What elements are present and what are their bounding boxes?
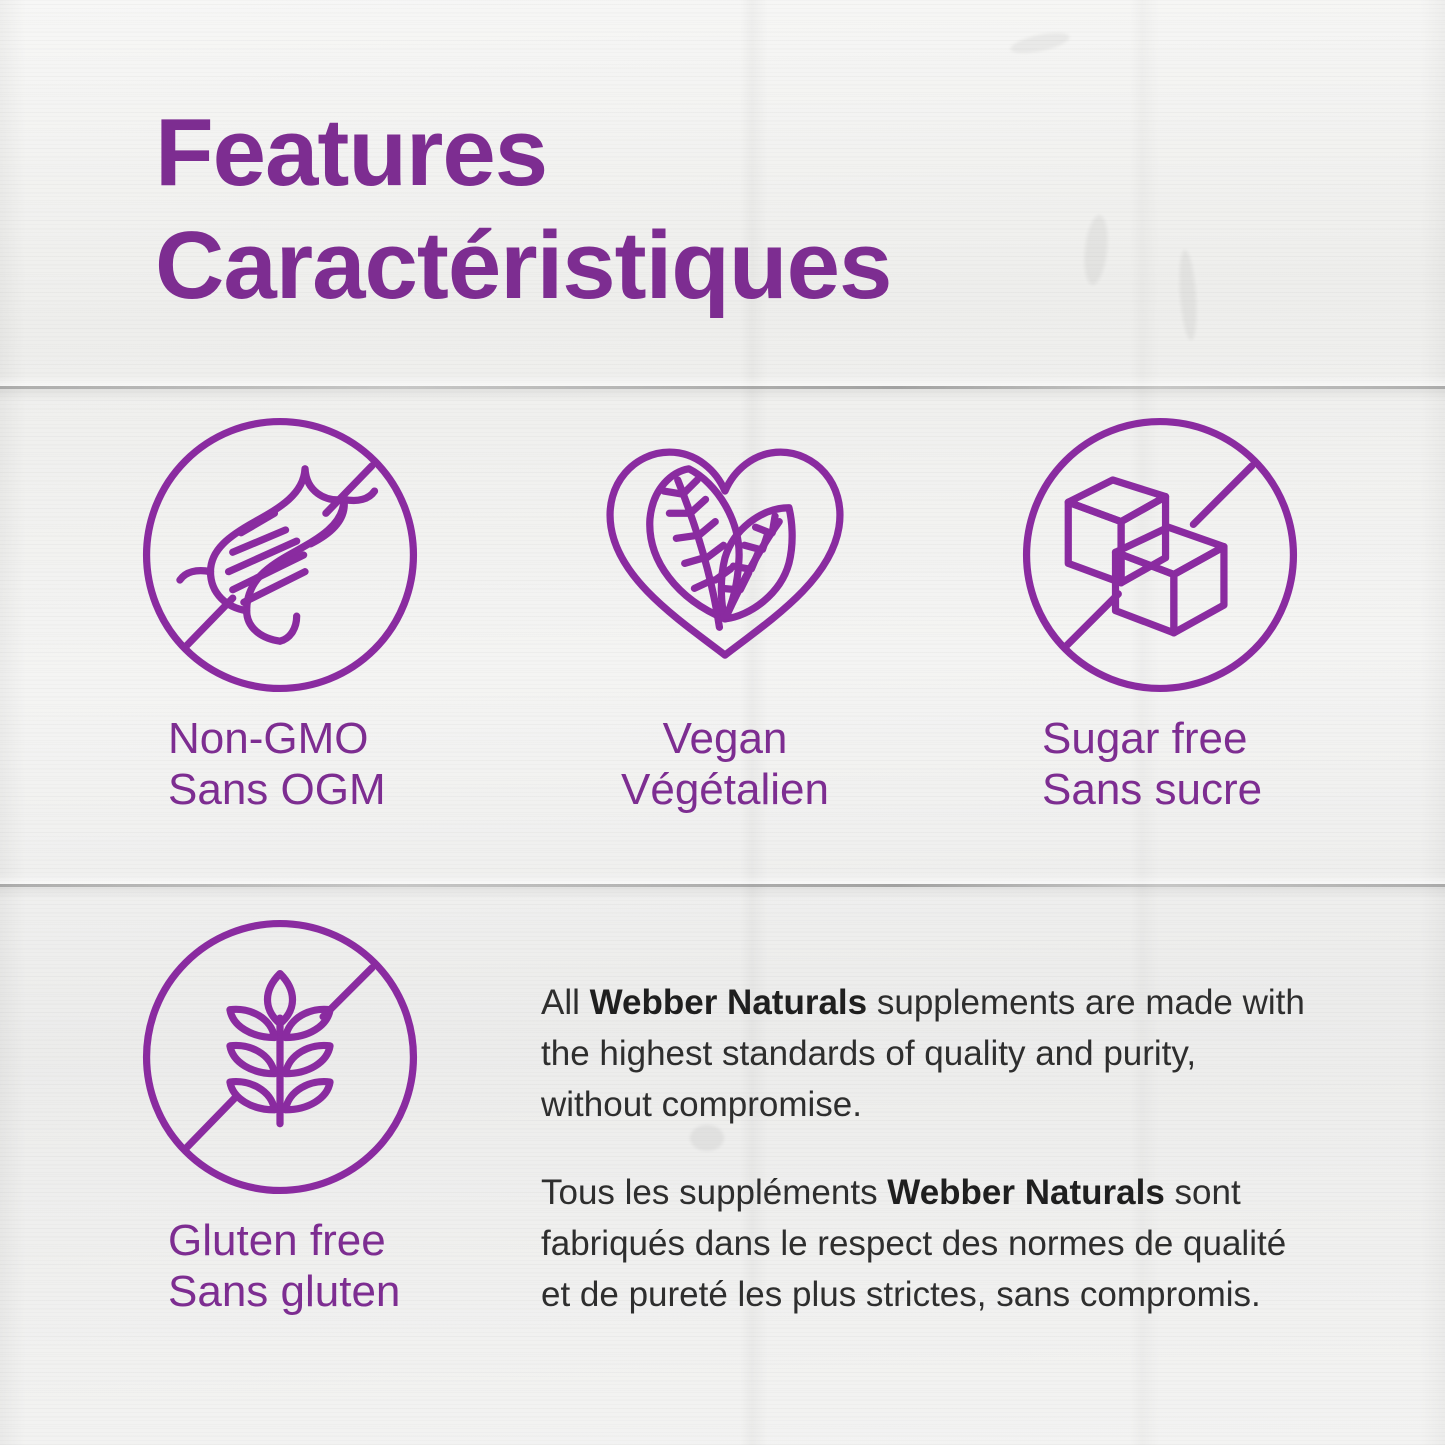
brand-statement-fr: Tous les suppléments Webber Naturals son…	[541, 1168, 1309, 1320]
page-title-en: Features	[155, 96, 1255, 209]
feature-label: Sugar free Sans sucre	[990, 713, 1330, 816]
dna-no-entry-icon	[110, 416, 450, 699]
wood-plank-background: Features Caractéristiques	[0, 0, 1445, 1445]
wood-grain-mark	[1009, 29, 1071, 57]
feature-label-en: Gluten free	[168, 1215, 450, 1266]
feature-label-en: Non-GMO	[168, 713, 450, 764]
feature-label-fr: Sans OGM	[168, 764, 450, 815]
brand-statement: All Webber Naturals supplements are made…	[541, 978, 1309, 1359]
feature-label: Vegan Végétalien	[555, 713, 895, 816]
wheat-no-entry-icon	[110, 918, 450, 1201]
page-title-fr: Caractéristiques	[155, 209, 1255, 322]
feature-label: Gluten free Sans gluten	[110, 1215, 450, 1318]
feature-label-fr: Sans gluten	[168, 1266, 450, 1317]
feature-label: Non-GMO Sans OGM	[110, 713, 450, 816]
feature-gluten-free: Gluten free Sans gluten	[110, 918, 450, 1318]
feature-vegan: Vegan Végétalien	[555, 416, 895, 816]
copy-fr-lead: Tous les suppléments	[541, 1173, 887, 1212]
page-title: Features Caractéristiques	[155, 96, 1255, 323]
feature-label-en: Vegan	[555, 713, 895, 764]
brand-name-fr: Webber Naturals	[887, 1173, 1165, 1212]
copy-en-lead: All	[541, 983, 590, 1022]
feature-non-gmo: Non-GMO Sans OGM	[110, 416, 450, 816]
sugar-cubes-no-entry-icon	[990, 416, 1330, 699]
heart-leaves-icon	[555, 416, 895, 699]
feature-label-fr: Végétalien	[555, 764, 895, 815]
feature-label-en: Sugar free	[1042, 713, 1330, 764]
feature-sugar-free: Sugar free Sans sucre	[990, 416, 1330, 816]
brand-statement-en: All Webber Naturals supplements are made…	[541, 978, 1309, 1130]
feature-label-fr: Sans sucre	[1042, 764, 1330, 815]
brand-name-en: Webber Naturals	[590, 983, 868, 1022]
